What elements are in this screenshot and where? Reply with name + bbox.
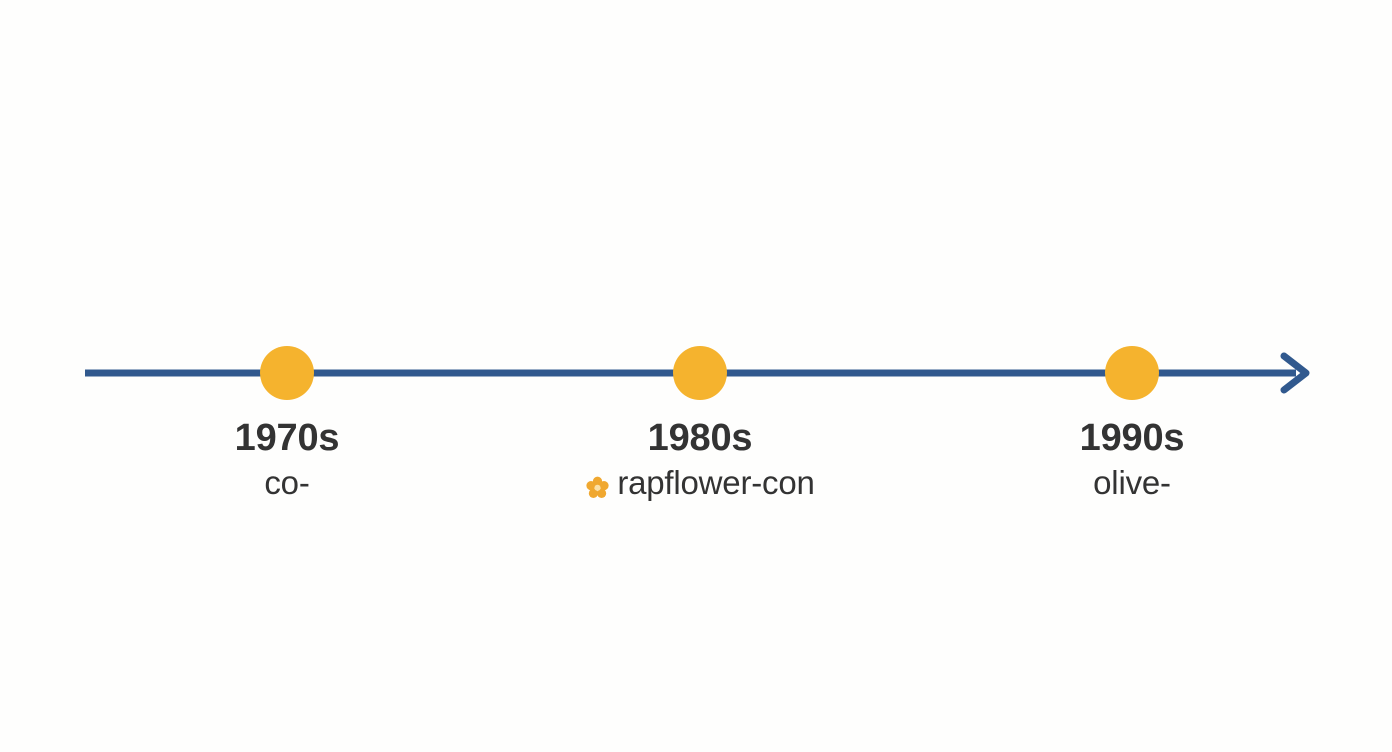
milestone-year-label: 1990s [967, 419, 1297, 458]
milestone-year-label: 1980s [535, 419, 865, 458]
milestone-year-label: 1970s [122, 419, 452, 458]
milestone-labels: 1980s rapflower-con [535, 419, 865, 500]
milestone-dot[interactable] [1105, 346, 1159, 400]
timeline-milestone-1970s[interactable]: 1970s co- [122, 346, 452, 500]
milestone-labels: 1990s olive- [967, 419, 1297, 500]
milestone-labels: 1970s co- [122, 419, 452, 500]
milestone-sublabel-row: co- [122, 466, 452, 501]
milestone-sublabel-row: rapflower-con [535, 466, 865, 501]
timeline-milestone-1990s[interactable]: 1990s olive- [967, 346, 1297, 500]
milestone-sublabel-text: rapflower-con [617, 466, 814, 501]
timeline-milestone-1980s[interactable]: 1980s rapflower-con [535, 346, 865, 500]
milestone-sublabel-row: olive- [967, 466, 1297, 501]
timeline-figure: 1970s co- 1980s [0, 0, 1392, 752]
milestone-sublabel-text: olive- [1093, 466, 1171, 501]
milestone-dot[interactable] [673, 346, 727, 400]
milestone-sublabel-text: co- [264, 466, 309, 501]
flower-icon [585, 472, 610, 497]
milestone-dot[interactable] [260, 346, 314, 400]
